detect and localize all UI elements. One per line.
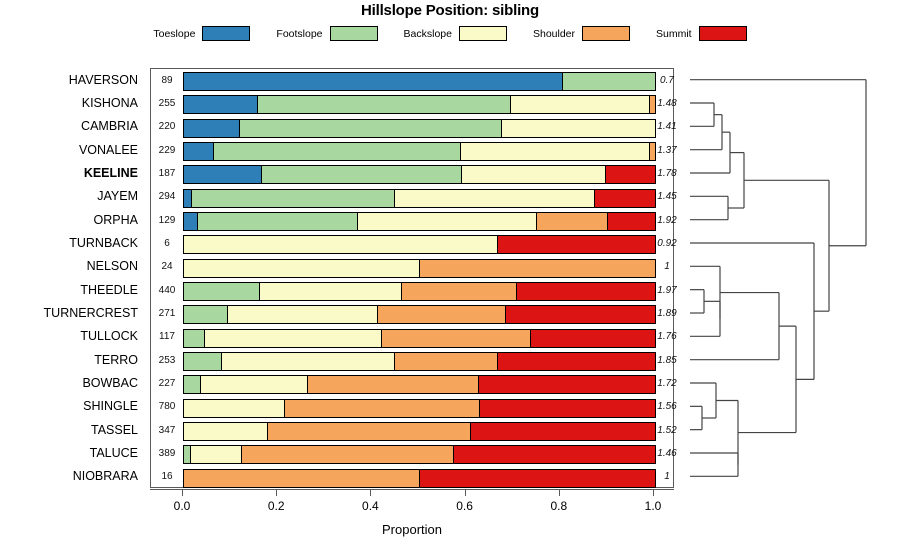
bar-segment-backslope — [184, 423, 267, 440]
bar-segment-summit — [479, 400, 655, 417]
row-n-value: 780 — [151, 401, 183, 412]
legend-swatch-icon — [330, 26, 378, 41]
bar-segment-shoulder — [307, 376, 478, 393]
bar-segment-footslope — [261, 166, 461, 183]
row-n-value: 389 — [151, 448, 183, 459]
stacked-bar — [183, 329, 656, 348]
x-axis-line — [150, 489, 674, 490]
legend: ToeslopeFootslopeBackslopeShoulderSummit — [0, 26, 900, 41]
chart-row: 2941.45 — [151, 186, 675, 209]
bar-segment-backslope — [184, 236, 497, 253]
bar-segment-summit — [478, 376, 655, 393]
x-axis-tick-label: 0.6 — [456, 499, 473, 513]
y-axis-label: TERRO — [94, 354, 138, 367]
bar-segment-shoulder — [381, 330, 530, 347]
chart-row: 2551.48 — [151, 92, 675, 115]
bar-segment-backslope — [510, 96, 650, 113]
legend-item-summit: Summit — [656, 26, 747, 41]
page-title: Hillslope Position: sibling — [0, 2, 900, 19]
chart-row: 1291.92 — [151, 209, 675, 232]
chart-row: 890.7 — [151, 69, 675, 92]
legend-swatch-icon — [202, 26, 250, 41]
bar-segment-shoulder — [184, 470, 419, 487]
stacked-bar — [183, 212, 656, 231]
row-n-value: 89 — [151, 75, 183, 86]
row-n-value: 187 — [151, 168, 183, 179]
bar-segment-footslope — [184, 306, 227, 323]
bar-segment-summit — [453, 446, 655, 463]
bar-segment-backslope — [204, 330, 381, 347]
x-axis-tick — [465, 489, 466, 496]
bar-segment-summit — [497, 236, 655, 253]
y-axis-label: TURNBACK — [69, 237, 138, 250]
bar-segment-footslope — [184, 283, 259, 300]
stacked-bar — [183, 352, 656, 371]
y-axis-label: KEELINE — [84, 167, 138, 180]
bar-segment-footslope — [239, 120, 500, 137]
x-axis-tick — [559, 489, 560, 496]
bar-segment-shoulder — [284, 400, 478, 417]
stacked-bar — [183, 95, 656, 114]
stacked-bar — [183, 189, 656, 208]
stacked-bar — [183, 469, 656, 488]
x-axis-tick-label: 0.8 — [550, 499, 567, 513]
bar-segment-backslope — [460, 143, 650, 160]
bar-segment-summit — [605, 166, 655, 183]
x-axis-tick-label: 1.0 — [645, 499, 662, 513]
chart-row: 2711.89 — [151, 302, 675, 325]
y-axis-label: NELSON — [87, 260, 138, 273]
y-axis-label: VONALEE — [79, 144, 138, 157]
bar-segment-shoulder — [649, 96, 655, 113]
legend-swatch-icon — [699, 26, 747, 41]
bar-segment-toeslope — [184, 73, 562, 90]
row-n-value: 294 — [151, 191, 183, 202]
x-axis-tick — [182, 489, 183, 496]
row-n-value: 253 — [151, 355, 183, 366]
chart-row: 4401.97 — [151, 279, 675, 302]
stacked-bar — [183, 399, 656, 418]
dendrogram — [674, 68, 900, 488]
x-axis-tick — [653, 489, 654, 496]
bar-segment-toeslope — [184, 143, 213, 160]
stacked-bar — [183, 235, 656, 254]
row-n-value: 227 — [151, 378, 183, 389]
bar-segment-shoulder — [377, 306, 505, 323]
y-axis-label: TURNERCREST — [44, 307, 138, 320]
bar-segment-summit — [505, 306, 655, 323]
y-axis-label: TULLOCK — [80, 330, 138, 343]
row-n-value: 24 — [151, 261, 183, 272]
x-axis-tick — [276, 489, 277, 496]
y-axis-label: BOWBAC — [82, 377, 138, 390]
y-axis-labels: HAVERSONKISHONACAMBRIAVONALEEKEELINEJAYE… — [0, 68, 144, 488]
chart-row: 3471.52 — [151, 419, 675, 442]
row-n-value: 255 — [151, 98, 183, 109]
legend-label: Footslope — [276, 28, 322, 40]
legend-item-footslope: Footslope — [276, 26, 377, 41]
x-axis-tick — [370, 489, 371, 496]
bar-segment-backslope — [221, 353, 394, 370]
bar-segment-backslope — [200, 376, 306, 393]
x-axis-tick-label: 0.4 — [362, 499, 379, 513]
row-n-value: 271 — [151, 308, 183, 319]
bar-segment-shoulder — [241, 446, 453, 463]
chart-root: Hillslope Position: sibling ToeslopeFoot… — [0, 0, 900, 560]
bar-segment-summit — [607, 213, 655, 230]
bar-segment-toeslope — [184, 96, 257, 113]
bar-segment-summit — [516, 283, 655, 300]
bar-segment-backslope — [227, 306, 377, 323]
bar-segment-footslope — [213, 143, 460, 160]
chart-row: 161 — [151, 466, 675, 489]
bar-segment-summit — [497, 353, 655, 370]
row-n-value: 16 — [151, 471, 183, 482]
bar-segment-shoulder — [401, 283, 517, 300]
x-axis-title: Proportion — [150, 522, 674, 537]
bar-segment-toeslope — [184, 120, 239, 137]
stacked-bar — [183, 305, 656, 324]
bar-segment-summit — [594, 190, 655, 207]
y-axis-label: SHINGLE — [83, 400, 138, 413]
legend-item-backslope: Backslope — [404, 26, 507, 41]
y-axis-label: CAMBRIA — [81, 120, 138, 133]
legend-item-toeslope: Toeslope — [153, 26, 250, 41]
bar-segment-backslope — [394, 190, 594, 207]
stacked-bar-panel: 890.72551.482201.412291.371871.782941.45… — [150, 68, 674, 488]
y-axis-label: TALUCE — [90, 447, 138, 460]
stacked-bar — [183, 375, 656, 394]
bar-segment-backslope — [501, 120, 655, 137]
y-axis-label: KISHONA — [82, 97, 138, 110]
chart-row: 1171.76 — [151, 326, 675, 349]
row-n-value: 117 — [151, 331, 183, 342]
legend-label: Toeslope — [153, 28, 195, 40]
x-axis-tick-label: 0.0 — [174, 499, 191, 513]
stacked-bar — [183, 72, 656, 91]
stacked-bar — [183, 422, 656, 441]
bar-segment-footslope — [184, 353, 221, 370]
bar-segment-footslope — [191, 190, 394, 207]
bar-segment-backslope — [184, 260, 419, 277]
legend-label: Summit — [656, 28, 692, 40]
bar-segment-backslope — [190, 446, 242, 463]
bar-segment-backslope — [259, 283, 400, 300]
row-n-value: 229 — [151, 145, 183, 156]
row-n-value: 129 — [151, 215, 183, 226]
chart-row: 3891.46 — [151, 442, 675, 465]
legend-item-shoulder: Shoulder — [533, 26, 630, 41]
bar-segment-shoulder — [394, 353, 497, 370]
bar-segment-backslope — [461, 166, 605, 183]
y-axis-label: ORPHA — [94, 214, 138, 227]
stacked-bar — [183, 119, 656, 138]
legend-swatch-icon — [582, 26, 630, 41]
bar-segment-summit — [419, 470, 655, 487]
y-axis-label: THEEDLE — [80, 284, 138, 297]
bar-segment-shoulder — [267, 423, 470, 440]
y-axis-label: TASSEL — [91, 424, 138, 437]
chart-row: 2201.41 — [151, 116, 675, 139]
dendrogram-svg — [674, 68, 900, 488]
chart-row: 2291.37 — [151, 139, 675, 162]
stacked-bar — [183, 259, 656, 278]
chart-row: 60.92 — [151, 232, 675, 255]
row-n-value: 6 — [151, 238, 183, 249]
x-axis-tick-label: 0.2 — [268, 499, 285, 513]
legend-label: Backslope — [404, 28, 452, 40]
bar-segment-footslope — [184, 376, 200, 393]
stacked-bar — [183, 282, 656, 301]
bar-segment-shoulder — [536, 213, 607, 230]
chart-row: 2271.72 — [151, 372, 675, 395]
bar-segment-toeslope — [184, 213, 197, 230]
y-axis-label: HAVERSON — [69, 74, 138, 87]
chart-row: 7801.56 — [151, 396, 675, 419]
bar-segment-backslope — [357, 213, 536, 230]
legend-label: Shoulder — [533, 28, 575, 40]
chart-row: 241 — [151, 256, 675, 279]
bar-segment-shoulder — [419, 260, 655, 277]
bar-segment-footslope — [184, 330, 204, 347]
bar-segment-backslope — [184, 400, 284, 417]
stacked-bar — [183, 445, 656, 464]
stacked-bar — [183, 142, 656, 161]
chart-row: 1871.78 — [151, 162, 675, 185]
row-n-value: 220 — [151, 121, 183, 132]
bar-segment-footslope — [257, 96, 509, 113]
legend-swatch-icon — [459, 26, 507, 41]
bar-segment-footslope — [562, 73, 655, 90]
row-n-value: 347 — [151, 425, 183, 436]
stacked-bar — [183, 165, 656, 184]
bar-segment-summit — [530, 330, 655, 347]
bar-segment-shoulder — [649, 143, 655, 160]
bar-segment-footslope — [197, 213, 357, 230]
y-axis-label: JAYEM — [97, 190, 138, 203]
row-n-value: 440 — [151, 285, 183, 296]
bar-segment-toeslope — [184, 166, 261, 183]
y-axis-label: NIOBRARA — [73, 470, 138, 483]
bar-segment-summit — [470, 423, 655, 440]
chart-row: 2531.85 — [151, 349, 675, 372]
